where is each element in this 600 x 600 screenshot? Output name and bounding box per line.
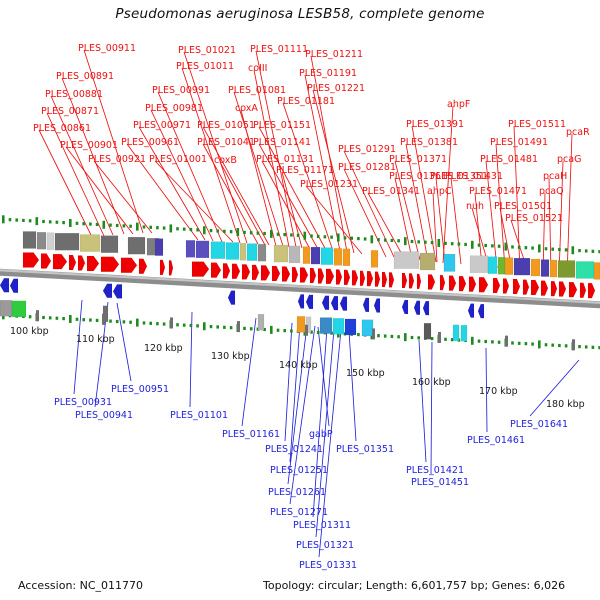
feature-box [12, 301, 26, 317]
forward-gene-arrow[interactable] [53, 254, 67, 269]
tick-mark [216, 229, 219, 232]
forward-gene-label[interactable]: PLES_01361 [389, 172, 447, 182]
leader-line [158, 92, 222, 242]
scale-tick [505, 336, 508, 347]
forward-gene-label[interactable]: PLES_00911 [78, 44, 136, 54]
forward-gene-arrow[interactable] [409, 273, 414, 288]
forward-gene-arrow[interactable] [121, 258, 137, 273]
feature-box [541, 260, 549, 277]
tick-mark [203, 226, 206, 234]
forward-gene-label[interactable]: PLES_01491 [490, 138, 548, 148]
feature-box [420, 253, 435, 270]
tick-mark [76, 222, 79, 225]
forward-gene-label[interactable]: PLES_00991 [152, 86, 210, 96]
feature-box [505, 258, 513, 275]
reverse-gene-label[interactable]: PLES_01251 [270, 466, 328, 476]
tick-mark [143, 321, 146, 324]
forward-gene-label[interactable]: PLES_01501 [494, 202, 552, 212]
feature-box [258, 314, 264, 330]
leader-line [349, 331, 356, 441]
scale-label: 140 kbp [279, 360, 318, 371]
reverse-gene-arrow[interactable] [414, 301, 420, 315]
forward-gene-label[interactable]: coxB [214, 156, 237, 166]
tick-mark [471, 241, 474, 249]
tick-mark [156, 322, 159, 325]
feature-box [594, 262, 600, 279]
forward-gene-arrow[interactable] [232, 264, 240, 279]
reverse-gene-label[interactable]: PLES_01461 [467, 436, 525, 446]
forward-gene-arrow[interactable] [459, 276, 466, 291]
reverse-gene-label[interactable]: gabP [309, 430, 333, 440]
forward-gene-label[interactable]: PLES_01471 [469, 187, 527, 197]
forward-gene-label[interactable]: PLES_01511 [508, 120, 566, 130]
tick-mark [230, 326, 233, 329]
reverse-gene-arrow[interactable] [374, 299, 380, 313]
forward-gene-label[interactable]: ahpC [427, 187, 452, 197]
forward-gene-arrow[interactable] [282, 267, 290, 282]
forward-gene-label[interactable]: PLES_01001 [149, 155, 207, 165]
tick-mark [531, 246, 534, 249]
tick-mark [297, 234, 300, 237]
forward-gene-label[interactable]: PLES_01021 [178, 46, 236, 56]
tick-mark [203, 322, 206, 330]
tick-mark [511, 245, 514, 248]
scale-tick [237, 321, 240, 332]
feature-box [80, 235, 100, 252]
tick-mark [109, 320, 112, 323]
topology-text: Topology: circular; Length: 6,601,757 bp… [263, 579, 565, 592]
forward-gene-label[interactable]: PLES_01481 [480, 155, 538, 165]
forward-gene-label[interactable]: PLES_01211 [305, 50, 363, 60]
feature-box [258, 244, 266, 261]
forward-gene-arrow[interactable] [513, 279, 520, 294]
tick-mark [223, 326, 226, 329]
tick-mark [505, 243, 508, 251]
tick-mark [96, 223, 99, 226]
tick-mark [183, 228, 186, 231]
tick-mark [210, 229, 213, 232]
tick-mark [136, 319, 139, 327]
scale-tick [438, 332, 441, 343]
feature-box [101, 236, 118, 253]
tick-mark [444, 242, 447, 245]
tick-mark [498, 245, 501, 248]
reverse-gene-arrow[interactable] [340, 297, 347, 311]
forward-gene-label[interactable]: PLES_01051 [197, 121, 255, 131]
forward-gene-arrow[interactable] [310, 268, 316, 283]
tick-mark [478, 340, 481, 343]
accession-text: Accession: NC_011770 [18, 579, 143, 592]
forward-gene-arrow[interactable] [551, 281, 557, 296]
leader-line [431, 342, 432, 474]
tick-mark [29, 219, 32, 222]
forward-gene-label[interactable]: nuh [466, 202, 484, 212]
tick-mark [458, 242, 461, 245]
tick-mark [69, 315, 72, 323]
tick-mark [498, 341, 501, 344]
tick-mark [337, 234, 340, 242]
tick-mark [592, 346, 595, 349]
forward-gene-arrow[interactable] [78, 255, 85, 270]
forward-gene-label[interactable]: pcaG [557, 155, 581, 165]
tick-mark [163, 226, 166, 229]
forward-gene-arrow[interactable] [69, 255, 76, 270]
forward-gene-label[interactable]: PLES_00891 [56, 72, 114, 82]
forward-gene-arrow[interactable] [375, 272, 380, 287]
forward-gene-label[interactable]: pcaR [566, 128, 590, 138]
forward-gene-label[interactable]: PLES_01521 [505, 214, 563, 224]
tick-mark [565, 248, 568, 251]
tick-mark [156, 226, 159, 229]
forward-gene-arrow[interactable] [300, 268, 308, 283]
tick-mark [22, 219, 25, 222]
forward-gene-arrow[interactable] [41, 253, 51, 268]
tick-mark [190, 324, 193, 327]
forward-gene-arrow[interactable] [588, 283, 595, 298]
feature-box [47, 233, 54, 250]
tick-mark [76, 318, 79, 321]
forward-gene-arrow[interactable] [402, 273, 407, 288]
feature-box [274, 245, 288, 262]
tick-mark [103, 221, 106, 229]
reverse-gene-label[interactable]: PLES_01451 [411, 478, 469, 488]
tick-mark [277, 329, 280, 332]
forward-gene-arrow[interactable] [503, 279, 509, 294]
tick-mark [15, 218, 18, 221]
tick-mark [384, 238, 387, 241]
feature-box [320, 318, 332, 334]
tick-mark [49, 220, 52, 223]
feature-box [343, 249, 350, 266]
forward-gene-arrow[interactable] [101, 257, 119, 272]
tick-mark [263, 232, 266, 235]
tick-mark [484, 244, 487, 247]
scale-tick [170, 317, 173, 328]
tick-mark [565, 344, 568, 347]
forward-gene-arrow[interactable] [252, 265, 259, 280]
tick-mark [357, 333, 360, 336]
reverse-gene-arrow[interactable] [306, 295, 313, 309]
forward-gene-label[interactable]: PLES_00881 [45, 90, 103, 100]
forward-gene-label[interactable]: ahpF [447, 100, 470, 110]
forward-gene-label[interactable]: PLES_00971 [133, 121, 191, 131]
tick-mark [42, 220, 45, 223]
scale-tick [305, 325, 308, 336]
scale-tick [102, 314, 105, 325]
reverse-gene-label[interactable]: PLES_01261 [268, 488, 326, 498]
reverse-gene-label[interactable]: PLES_01311 [293, 521, 351, 531]
tick-mark [129, 321, 132, 324]
feature-box [424, 323, 431, 339]
tick-mark [558, 248, 561, 251]
feature-box [394, 252, 419, 269]
tick-mark [350, 237, 353, 240]
feature-box [453, 325, 459, 341]
leader-line [285, 323, 292, 441]
feature-box [297, 316, 305, 332]
reverse-gene-arrow[interactable] [478, 304, 484, 318]
forward-gene-arrow[interactable] [449, 276, 456, 291]
forward-gene-label[interactable]: PLES_01281 [338, 163, 396, 173]
forward-gene-arrow[interactable] [192, 262, 209, 277]
forward-gene-arrow[interactable] [139, 259, 147, 274]
tick-mark [391, 335, 394, 338]
reverse-gene-label[interactable]: PLES_01321 [296, 541, 354, 551]
feature-box [514, 258, 530, 275]
feature-box [461, 325, 467, 341]
forward-gene-label[interactable]: PLES_00871 [41, 107, 99, 117]
reverse-gene-label[interactable]: PLES_00931 [54, 398, 112, 408]
reverse-gene-label[interactable]: PLES_00941 [75, 411, 133, 421]
reverse-gene-label[interactable]: PLES_01161 [222, 430, 280, 440]
forward-gene-label[interactable]: PLES_01431 [445, 172, 503, 182]
tick-mark [431, 241, 434, 244]
leader-line [155, 161, 233, 242]
forward-gene-arrow[interactable] [272, 266, 280, 281]
forward-gene-arrow[interactable] [87, 256, 99, 271]
forward-gene-label[interactable]: PLES_01221 [307, 84, 365, 94]
forward-gene-arrow[interactable] [344, 270, 350, 285]
reverse-gene-label[interactable]: PLES_01331 [299, 561, 357, 571]
reverse-gene-arrow[interactable] [10, 279, 18, 293]
scale-label: 120 kbp [144, 343, 183, 354]
tick-mark [143, 225, 146, 228]
forward-gene-arrow[interactable] [242, 264, 250, 279]
forward-gene-label[interactable]: coIII [248, 64, 267, 74]
feature-box [362, 320, 373, 336]
scale-tick [372, 328, 375, 339]
forward-gene-label[interactable]: pcaH [543, 172, 567, 182]
feature-box [444, 254, 455, 271]
reverse-gene-label[interactable]: PLES_01641 [510, 420, 568, 430]
tick-mark [411, 240, 414, 243]
forward-gene-label[interactable]: PLES_01041 [197, 138, 255, 148]
forward-gene-label[interactable]: PLES_01391 [406, 120, 464, 130]
forward-gene-arrow[interactable] [261, 265, 270, 280]
scale-label: 150 kbp [346, 368, 385, 379]
reverse-gene-arrow[interactable] [228, 291, 235, 305]
tick-mark [592, 250, 595, 253]
tick-mark [578, 249, 581, 252]
reverse-gene-arrow[interactable] [402, 300, 408, 314]
reverse-gene-arrow[interactable] [423, 301, 429, 315]
tick-mark [196, 324, 199, 327]
tick-mark [377, 238, 380, 241]
feature-box [196, 241, 209, 258]
tick-mark [69, 219, 72, 227]
forward-gene-label[interactable]: PLES_01131 [256, 155, 314, 165]
forward-gene-label[interactable]: PLES_01191 [299, 69, 357, 79]
forward-gene-label[interactable]: PLES_00921 [88, 155, 146, 165]
reverse-gene-label[interactable]: PLES_01101 [170, 411, 228, 421]
feature-box [345, 319, 356, 335]
forward-gene-label[interactable]: PLES_00861 [33, 124, 91, 134]
forward-gene-arrow[interactable] [326, 269, 334, 284]
tick-mark [317, 331, 320, 334]
tick-mark [62, 221, 65, 224]
tick-mark [109, 224, 112, 227]
tick-mark [176, 323, 179, 326]
forward-gene-label[interactable]: PLES_01291 [338, 145, 396, 155]
tick-mark [290, 233, 293, 236]
forward-gene-label[interactable]: pcaQ [539, 187, 564, 197]
tick-mark [250, 327, 253, 330]
forward-gene-arrow[interactable] [469, 277, 476, 292]
tick-mark [377, 334, 380, 337]
forward-gene-arrow[interactable] [417, 274, 421, 289]
tick-mark [484, 340, 487, 343]
tick-mark [464, 243, 467, 246]
forward-gene-label[interactable]: PLES_01371 [389, 155, 447, 165]
tick-mark [357, 237, 360, 240]
forward-gene-arrow[interactable] [382, 272, 387, 287]
tick-mark [270, 230, 273, 238]
forward-gene-label[interactable]: PLES_01011 [176, 62, 234, 72]
tick-mark [411, 336, 414, 339]
tick-mark [89, 222, 92, 225]
forward-gene-label[interactable]: PLES_01141 [253, 138, 311, 148]
feature-box [321, 248, 333, 265]
forward-gene-label[interactable]: PLES_00961 [121, 138, 179, 148]
reverse-gene-arrow[interactable] [103, 284, 112, 298]
tick-mark [451, 242, 454, 245]
tick-mark [136, 223, 139, 231]
leader-line [318, 327, 329, 426]
tick-mark [230, 230, 233, 233]
forward-gene-arrow[interactable] [531, 280, 539, 295]
reverse-gene-label[interactable]: PLES_01421 [406, 466, 464, 476]
tick-mark [545, 247, 548, 250]
tick-mark [9, 218, 12, 221]
scale-label: 110 kbp [76, 334, 115, 345]
reverse-gene-arrow[interactable] [363, 298, 369, 312]
reverse-gene-arrow[interactable] [322, 296, 329, 310]
tick-mark [196, 228, 199, 231]
forward-gene-label[interactable]: coxA [235, 104, 258, 114]
tick-mark [471, 337, 474, 345]
reverse-gene-arrow[interactable] [113, 284, 122, 298]
reverse-gene-label[interactable]: PLES_01351 [336, 445, 394, 455]
reverse-gene-arrow[interactable] [468, 304, 474, 318]
tick-mark [511, 341, 514, 344]
tick-mark [364, 237, 367, 240]
forward-gene-label[interactable]: PLES_01171 [276, 166, 334, 176]
reverse-gene-arrow[interactable] [331, 296, 338, 310]
reverse-gene-arrow[interactable] [0, 278, 9, 292]
tick-mark [518, 246, 521, 249]
genome-viewer: Pseudomonas aeruginosa LESB58, complete … [0, 0, 600, 600]
scale-tick [572, 339, 575, 350]
forward-gene-label[interactable]: PLES_01381 [400, 138, 458, 148]
feature-box [558, 261, 575, 278]
forward-gene-arrow[interactable] [367, 271, 373, 286]
tick-mark [96, 319, 99, 322]
tick-mark [29, 315, 32, 318]
tick-mark [243, 231, 246, 234]
scale-label: 100 kbp [10, 326, 49, 337]
tick-mark [371, 235, 374, 243]
leader-line [419, 340, 426, 462]
reverse-gene-label[interactable]: PLES_01241 [265, 445, 323, 455]
forward-gene-arrow[interactable] [211, 263, 221, 278]
forward-gene-label[interactable]: PLES_01341 [362, 187, 420, 197]
tick-mark [257, 232, 260, 235]
reverse-gene-arrow[interactable] [298, 294, 304, 308]
footer-bar: Accession: NC_011770 Topology: circular;… [0, 574, 600, 600]
tick-mark [404, 333, 407, 341]
forward-gene-label[interactable]: PLES_01231 [300, 180, 358, 190]
tick-mark [223, 230, 226, 233]
forward-gene-label[interactable]: PLES_00901 [60, 141, 118, 151]
tick-mark [123, 224, 126, 227]
forward-gene-arrow[interactable] [169, 260, 173, 275]
forward-gene-arrow[interactable] [559, 282, 566, 297]
feature-box [498, 257, 505, 274]
tick-mark [525, 246, 528, 249]
forward-gene-label[interactable]: PLES_01081 [228, 86, 286, 96]
forward-gene-arrow[interactable] [336, 269, 342, 284]
forward-gene-arrow[interactable] [479, 277, 488, 292]
forward-gene-label[interactable]: PLES_01151 [253, 121, 311, 131]
tick-mark [170, 224, 173, 232]
forward-gene-arrow[interactable] [569, 282, 577, 297]
tick-mark [176, 227, 179, 230]
tick-mark [56, 317, 59, 320]
leader-line [117, 303, 131, 381]
forward-gene-arrow[interactable] [292, 267, 298, 282]
feature-box [37, 232, 46, 249]
tick-mark [404, 237, 407, 245]
tick-mark [551, 248, 554, 251]
tick-mark [417, 240, 420, 243]
forward-gene-arrow[interactable] [223, 263, 230, 278]
forward-gene-arrow[interactable] [360, 271, 365, 286]
forward-gene-label[interactable]: PLES_01111 [250, 45, 308, 55]
tick-mark [283, 329, 286, 332]
tick-mark [123, 320, 126, 323]
forward-gene-arrow[interactable] [523, 280, 529, 295]
forward-gene-arrow[interactable] [428, 274, 435, 289]
forward-gene-arrow[interactable] [23, 252, 39, 267]
feature-box [531, 259, 540, 276]
tick-mark [585, 249, 588, 252]
feature-box [247, 244, 257, 261]
scale-tick-marks [36, 310, 575, 350]
forward-gene-arrow[interactable] [160, 260, 165, 275]
scale-label: 130 kbp [211, 351, 250, 362]
tick-mark [545, 343, 548, 346]
tick-mark [518, 342, 521, 345]
reverse-gene-label[interactable]: PLES_01271 [270, 508, 328, 518]
tick-mark [578, 345, 581, 348]
forward-gene-arrow[interactable] [389, 272, 394, 287]
forward-gene-arrow[interactable] [440, 275, 445, 290]
reverse-gene-label[interactable]: PLES_00951 [111, 385, 169, 395]
forward-gene-arrow[interactable] [580, 283, 586, 298]
tick-mark [531, 342, 534, 345]
tick-mark [444, 338, 447, 341]
feature-box [128, 237, 145, 254]
feature-box [334, 248, 342, 265]
forward-gene-label[interactable]: PLES_01181 [277, 97, 335, 107]
tick-mark [216, 325, 219, 328]
tick-mark [324, 235, 327, 238]
forward-gene-label[interactable]: PLES_00981 [145, 104, 203, 114]
forward-gene-arrow[interactable] [493, 278, 500, 293]
forward-gene-arrow[interactable] [352, 270, 358, 285]
forward-gene-arrow[interactable] [541, 281, 548, 296]
forward-gene-arrow[interactable] [318, 268, 324, 283]
